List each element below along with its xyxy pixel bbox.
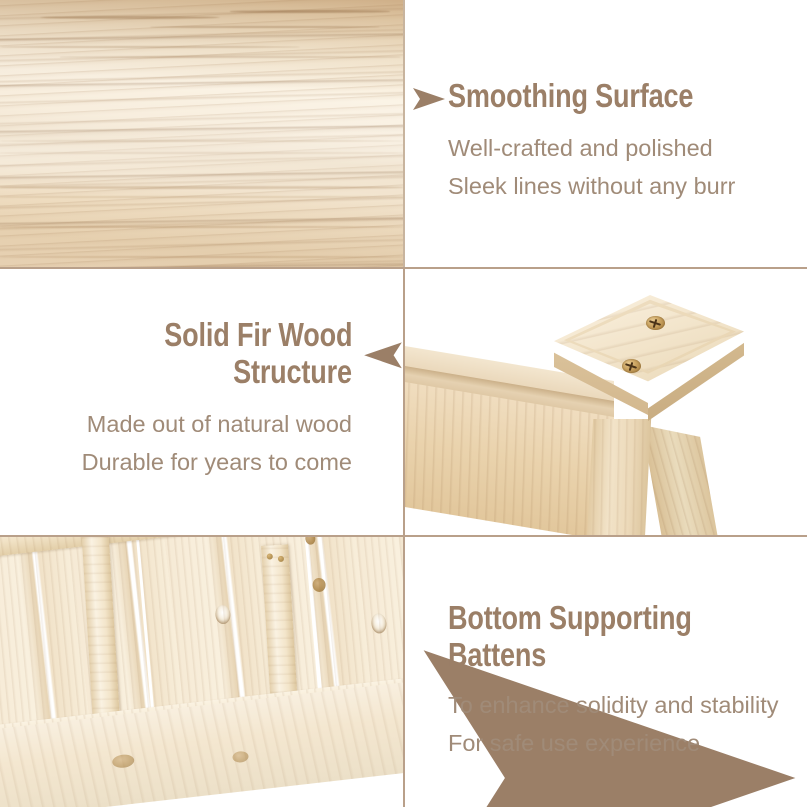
- infographic-page: Smoothing Surface Well-crafted and polis…: [0, 0, 807, 807]
- divider-vertical-main: [403, 267, 405, 807]
- screw-lower: [622, 359, 641, 373]
- feature-text-3: Bottom Supporting Battens To enhance sol…: [448, 600, 779, 762]
- right-arrow-icon: [412, 86, 446, 112]
- image-solid-fir-wood-structure: [404, 269, 807, 535]
- image-smoothing-surface: [0, 0, 403, 267]
- feature-line-3b: For safe use experience: [448, 724, 779, 762]
- feature-heading-3-line1: Bottom Supporting: [448, 600, 719, 635]
- divider-vertical-top: [403, 0, 405, 267]
- image-bottom-supporting-battens: [0, 537, 403, 807]
- feature-heading-2-line2: Structure: [233, 354, 352, 389]
- leg-column-back: [642, 425, 720, 535]
- screw-upper: [646, 316, 665, 330]
- feature-line-2a: Made out of natural wood: [0, 405, 352, 443]
- feature-line-3a: To enhance solidity and stability: [448, 686, 779, 724]
- text-panel-bottom-battens: Bottom Supporting Battens To enhance sol…: [404, 537, 807, 807]
- text-panel-smoothing-surface: Smoothing Surface Well-crafted and polis…: [404, 0, 807, 267]
- feature-heading-1: Smoothing Surface: [448, 78, 693, 113]
- feature-text-1: Smoothing Surface Well-crafted and polis…: [448, 78, 747, 205]
- feature-heading-2-line1: Solid Fir Wood: [164, 317, 352, 352]
- feature-line-1b: Sleek lines without any burr: [448, 167, 747, 205]
- text-panel-solid-fir-wood: Solid Fir Wood Structure Made out of nat…: [0, 269, 403, 535]
- left-arrow-icon: [363, 340, 403, 371]
- feature-text-2: Solid Fir Wood Structure Made out of nat…: [0, 317, 352, 481]
- feature-heading-3-line2: Battens: [448, 637, 719, 672]
- feature-line-2b: Durable for years to come: [0, 443, 352, 481]
- leg-joint-photo: [404, 269, 807, 535]
- leg-column-front: [587, 419, 651, 535]
- feature-line-1a: Well-crafted and polished: [448, 129, 747, 167]
- underside-photo: [0, 537, 403, 807]
- wood-grain-texture: [0, 0, 403, 267]
